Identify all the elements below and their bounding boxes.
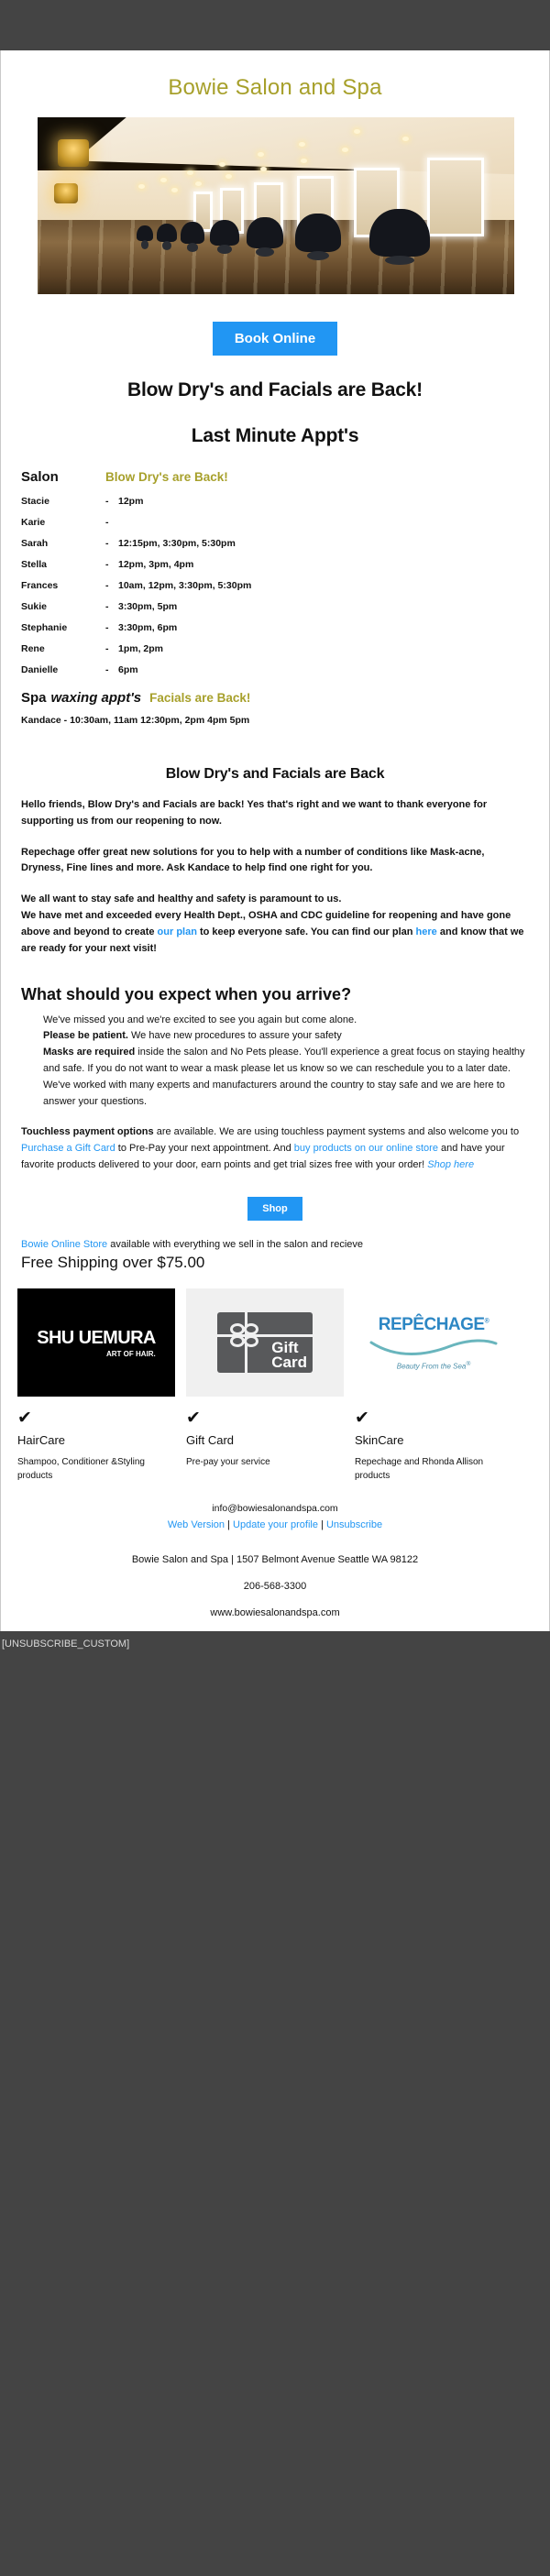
- gift-card-wordmark: Gift Card: [271, 1341, 307, 1370]
- wave-icon: [369, 1337, 498, 1355]
- repechage-name: REPÊCHAGE®: [355, 1315, 512, 1335]
- spa-label-italic: waxing appt's: [51, 690, 142, 706]
- stylist-times: 3:30pm, 5pm: [118, 601, 177, 612]
- shop-button-row: Shop: [1, 1186, 549, 1237]
- business-phone: 206-568-3300: [19, 1581, 531, 1592]
- card-description: Shampoo, Conditioner &Styling products: [17, 1455, 175, 1483]
- masks-required-bold: Masks are required: [43, 1047, 135, 1058]
- ceiling-light: [301, 159, 307, 163]
- bow-petal: [230, 1323, 245, 1335]
- ceiling-light: [195, 181, 202, 186]
- spa-schedule-header: Spa waxing appt's Facials are Back!: [21, 690, 529, 706]
- row-dash: -: [105, 601, 118, 612]
- paragraph-intro: Hello friends, Blow Dry's and Facials ar…: [21, 797, 529, 830]
- safety-line-1: We all want to stay safe and healthy and…: [21, 893, 341, 904]
- shu-uemura-tagline: ART OF HAIR.: [37, 1350, 156, 1358]
- online-store-line: Bowie Online Store available with everyt…: [1, 1237, 549, 1253]
- stylist-name: Sarah: [21, 538, 105, 549]
- email-page: Bowie Salon and Spa: [0, 0, 550, 1686]
- salon-chair: [369, 209, 430, 257]
- page-title: Bowie Salon and Spa: [1, 50, 549, 117]
- expect-line-1: We've missed you and we're excited to se…: [43, 1013, 529, 1029]
- salon-chair: [210, 220, 239, 246]
- stylist-name: Sukie: [21, 601, 105, 612]
- check-icon: ✔: [17, 1409, 175, 1427]
- row-dash: -: [105, 559, 118, 570]
- please-be-patient-bold: Please be patient.: [43, 1030, 128, 1041]
- ceiling-light: [258, 152, 264, 157]
- payment-block: Touchless payment options are available.…: [1, 1124, 549, 1173]
- stylist-times: 10am, 12pm, 3:30pm, 5:30pm: [118, 580, 251, 591]
- salon-label: Salon: [21, 469, 105, 485]
- footer-links: Web Version | Update your profile | Unsu…: [19, 1519, 531, 1530]
- contact-email[interactable]: info@bowiesalonandspa.com: [19, 1503, 531, 1514]
- email-content: Bowie Salon and Spa: [0, 50, 550, 1631]
- salon-chair: [137, 225, 153, 241]
- expect-heading: What should you expect when you arrive?: [1, 985, 549, 1004]
- body-copy: Hello friends, Blow Dry's and Facials ar…: [1, 797, 549, 958]
- expect-line-3: Masks are required inside the salon and …: [43, 1045, 529, 1078]
- card-word: Card: [271, 1355, 307, 1370]
- card-description: Repechage and Rhonda Allison products: [355, 1455, 512, 1483]
- row-dash: -: [105, 664, 118, 675]
- ceiling-light: [299, 142, 305, 147]
- online-store-rest: available with everything we sell in the…: [107, 1239, 363, 1250]
- salon-interior-image: [38, 117, 514, 294]
- free-shipping-text: Free Shipping over $75.00: [1, 1252, 549, 1272]
- shu-uemura-logo[interactable]: SHU UEMURA ART OF HAIR.: [17, 1288, 175, 1397]
- stylist-name: Karie: [21, 517, 105, 528]
- row-dash: -: [105, 643, 118, 654]
- stylist-times: 3:30pm, 6pm: [118, 622, 177, 633]
- salon-chair: [295, 214, 341, 252]
- ceiling-light: [160, 178, 167, 182]
- card-gift-card[interactable]: Gift Card ✔ Gift Card Pre-pay your servi…: [186, 1288, 344, 1483]
- stylist-times: 12:15pm, 3:30pm, 5:30pm: [118, 538, 236, 549]
- here-link[interactable]: here: [416, 926, 437, 937]
- ceiling-light: [260, 167, 267, 171]
- row-dash: -: [105, 538, 118, 549]
- registered-mark: ®: [485, 1319, 489, 1325]
- row-dash: -: [105, 622, 118, 633]
- paragraph-repechage: Repechage offer great new solutions for …: [21, 845, 529, 878]
- row-dash: -: [105, 580, 118, 591]
- unsubscribe-token-bar: [UNSUBSCRIBE_CUSTOM]: [0, 1631, 550, 1686]
- table-row: Frances - 10am, 12pm, 3:30pm, 5:30pm: [21, 580, 529, 591]
- ceiling-light: [342, 148, 348, 152]
- card-skincare[interactable]: REPÊCHAGE® Beauty From the Sea® ✔ SkinCa…: [355, 1288, 512, 1483]
- touchless-payment-bold: Touchless payment options: [21, 1126, 154, 1137]
- stylist-name: Frances: [21, 580, 105, 591]
- product-cards: SHU UEMURA ART OF HAIR. ✔ HairCare Shamp…: [1, 1272, 549, 1483]
- top-dark-bar: [0, 0, 550, 50]
- email-footer: info@bowiesalonandspa.com Web Version | …: [1, 1483, 549, 1618]
- book-online-button[interactable]: Book Online: [213, 322, 337, 356]
- table-row: Danielle - 6pm: [21, 664, 529, 675]
- business-website[interactable]: www.bowiesalonandspa.com: [19, 1607, 531, 1618]
- gift-card-icon: Gift Card: [217, 1312, 313, 1373]
- chandelier-icon: [54, 183, 78, 203]
- repechage-logo[interactable]: REPÊCHAGE® Beauty From the Sea®: [355, 1288, 512, 1397]
- link-separator: |: [318, 1519, 326, 1530]
- table-row: Stephanie - 3:30pm, 6pm: [21, 622, 529, 633]
- shop-here-link[interactable]: Shop here: [427, 1159, 474, 1170]
- row-dash: -: [105, 517, 118, 528]
- our-plan-link[interactable]: our plan: [158, 926, 197, 937]
- ceiling-light: [225, 174, 232, 179]
- repechage-wordmark: REPÊCHAGE® Beauty From the Sea®: [355, 1315, 512, 1371]
- bow-icon: [230, 1323, 261, 1349]
- shop-button[interactable]: Shop: [247, 1197, 302, 1221]
- table-row: Rene - 1pm, 2pm: [21, 643, 529, 654]
- bow-petal: [244, 1335, 258, 1347]
- repechage-tagline: Beauty From the Sea®: [355, 1361, 512, 1371]
- table-row: Stella - 12pm, 3pm, 4pm: [21, 559, 529, 570]
- salon-mirror: [427, 158, 484, 236]
- paragraph-safety: We all want to stay safe and healthy and…: [21, 892, 529, 957]
- table-row: Stacie - 12pm: [21, 496, 529, 507]
- ceiling-light: [354, 129, 360, 134]
- ceiling-light: [402, 137, 409, 141]
- gift-card-logo[interactable]: Gift Card: [186, 1288, 344, 1397]
- appointments-schedule: Salon Blow Dry's are Back! Stacie - 12pm…: [1, 447, 549, 729]
- repechage-name-text: REPÊCHAGE: [379, 1315, 485, 1334]
- stylist-times: 6pm: [118, 664, 138, 675]
- stylist-times: 12pm, 3pm, 4pm: [118, 559, 193, 570]
- ceiling-light: [187, 170, 193, 175]
- sub-headline: Last Minute Appt's: [1, 425, 549, 447]
- hero-image-wrap: [1, 117, 549, 294]
- stylist-times: 1pm, 2pm: [118, 643, 163, 654]
- spa-label: Spa: [21, 690, 47, 706]
- stylist-name: Danielle: [21, 664, 105, 675]
- expect-line-2-rest: We have new procedures to assure your sa…: [128, 1030, 342, 1041]
- body-heading: Blow Dry's and Facials are Back: [1, 766, 549, 783]
- stylist-name: Stephanie: [21, 622, 105, 633]
- stylist-times: 12pm: [118, 496, 143, 507]
- unsubscribe-link[interactable]: Unsubscribe: [326, 1519, 382, 1530]
- card-title: HairCare: [17, 1433, 175, 1447]
- registered-mark: ®: [466, 1361, 470, 1367]
- chandelier-icon: [58, 139, 89, 167]
- card-title: Gift Card: [186, 1433, 344, 1447]
- salon-chair: [181, 222, 204, 244]
- bowie-online-store-link[interactable]: Bowie Online Store: [21, 1239, 107, 1250]
- stylist-name: Stacie: [21, 496, 105, 507]
- salon-chair: [247, 217, 283, 248]
- ceiling-light: [171, 188, 178, 192]
- payment-text-1: are available. We are using touchless pa…: [154, 1126, 519, 1137]
- card-haircare[interactable]: SHU UEMURA ART OF HAIR. ✔ HairCare Shamp…: [17, 1288, 175, 1483]
- spa-row: Kandace - 10:30am, 11am 12:30pm, 2pm 4pm…: [21, 715, 529, 726]
- main-headline: Blow Dry's and Facials are Back!: [1, 379, 549, 401]
- stylist-name: Rene: [21, 643, 105, 654]
- expect-line-4: We've worked with many experts and manuf…: [43, 1078, 529, 1111]
- card-description: Pre-pay your service: [186, 1455, 344, 1469]
- link-separator: |: [225, 1519, 233, 1530]
- business-address: Bowie Salon and Spa | 1507 Belmont Avenu…: [19, 1554, 531, 1565]
- bow-petal: [230, 1335, 245, 1347]
- purchase-gift-card-link[interactable]: Purchase a Gift Card: [21, 1143, 115, 1154]
- web-version-link[interactable]: Web Version: [168, 1519, 225, 1530]
- safety-line-3: to keep everyone safe. You can find our …: [197, 926, 416, 937]
- spa-accent-note: Facials are Back!: [149, 691, 250, 705]
- table-row: Sukie - 3:30pm, 5pm: [21, 601, 529, 612]
- ceiling-light: [219, 162, 225, 167]
- buy-products-link[interactable]: buy products on our online store: [294, 1143, 438, 1154]
- bow-petal: [244, 1323, 258, 1335]
- check-icon: ✔: [186, 1409, 344, 1427]
- table-row: Sarah - 12:15pm, 3:30pm, 5:30pm: [21, 538, 529, 549]
- table-row: Karie -: [21, 517, 529, 528]
- shu-uemura-wordmark: SHU UEMURA ART OF HAIR.: [37, 1328, 156, 1358]
- shu-uemura-name: SHU UEMURA: [37, 1328, 156, 1349]
- update-profile-link[interactable]: Update your profile: [233, 1519, 318, 1530]
- repechage-tagline-text: Beauty From the Sea: [397, 1363, 467, 1371]
- expect-block: We've missed you and we're excited to se…: [1, 1013, 549, 1111]
- check-icon: ✔: [355, 1409, 512, 1427]
- row-dash: -: [105, 496, 118, 507]
- expect-line-2: Please be patient. We have new procedure…: [43, 1028, 529, 1045]
- salon-schedule-header: Salon Blow Dry's are Back!: [21, 469, 529, 485]
- ceiling-light: [138, 184, 145, 189]
- salon-accent-note: Blow Dry's are Back!: [105, 470, 228, 484]
- book-online-row: Book Online: [1, 294, 549, 367]
- card-title: SkinCare: [355, 1433, 512, 1447]
- paragraph-payment: Touchless payment options are available.…: [21, 1124, 529, 1173]
- salon-chair: [157, 224, 177, 242]
- payment-text-2: to Pre-Pay your next appointment. And: [115, 1143, 294, 1154]
- stylist-name: Stella: [21, 559, 105, 570]
